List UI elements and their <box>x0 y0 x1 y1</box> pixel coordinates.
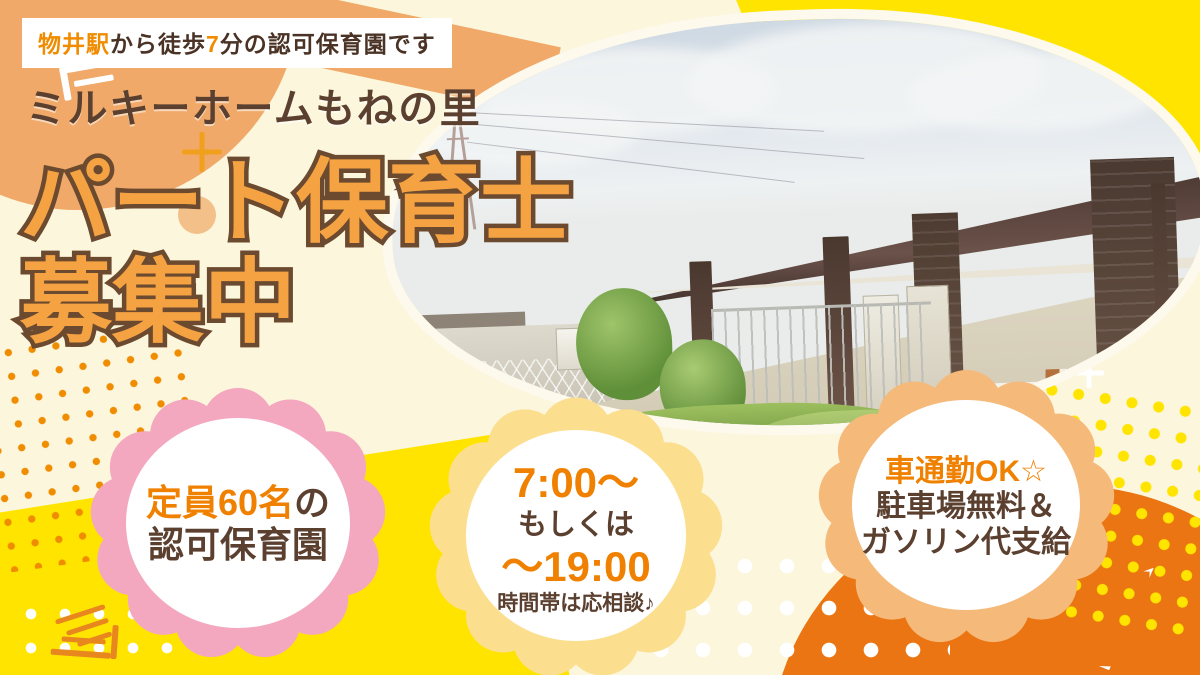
badge-commute-benefits: 車通勤OK☆ 駐車場無料＆ ガソリン代支給 <box>820 372 1112 642</box>
tagline-bar: 物井駅から徒歩7分の認可保育園です <box>22 18 452 68</box>
badge-capacity-line-1: 定員60名の <box>146 482 330 524</box>
badge-working-hours-text: 7:00〜 もしくは 〜19:00 時間帯は応相談♪ <box>497 458 655 616</box>
tagline-suffix: 分の認可保育園です <box>220 31 436 57</box>
headline-line-2: 募集中 <box>20 228 296 361</box>
badge-hours-start: 7:00〜 <box>497 458 655 508</box>
tagline-body: から徒歩 <box>110 31 206 57</box>
gate-pillar <box>1164 375 1200 439</box>
badge-working-hours: 7:00〜 もしくは 〜19:00 時間帯は応相談♪ <box>432 400 720 675</box>
badge-hours-end: 〜19:00 <box>497 542 655 592</box>
badge-commute-line-1: 車通勤OK☆ <box>861 454 1071 489</box>
badge-capacity: 定員60名の 認可保育園 <box>92 390 384 658</box>
tagline-minutes: 7 <box>206 31 220 57</box>
gate-plate <box>1146 381 1161 397</box>
badge-hours-note: 時間帯は応相談♪ <box>497 592 655 617</box>
badge-capacity-particle: の <box>294 482 330 523</box>
badge-commute-line-2: 駐車場無料＆ <box>861 489 1071 524</box>
badge-commute-line-3: ガソリン代支給 <box>861 525 1071 560</box>
tagline-text: 物井駅から徒歩7分の認可保育園です <box>38 25 436 59</box>
badge-capacity-count: 定員60名 <box>146 482 294 523</box>
badge-commute-text: 車通勤OK☆ 駐車場無料＆ ガソリン代支給 <box>861 454 1071 560</box>
badge-capacity-line-2: 認可保育園 <box>146 524 330 566</box>
facility-name: ミルキーホームもねの里 <box>26 76 481 134</box>
tagline-station: 物井駅 <box>38 31 110 57</box>
recruitment-banner: ミルキーホーム もねの里 物井駅から徒歩7分の認可保育園です ミルキーホームもね… <box>0 0 1200 675</box>
badge-capacity-text: 定員60名の 認可保育園 <box>146 482 330 567</box>
badge-hours-connector: もしくは <box>497 508 655 542</box>
